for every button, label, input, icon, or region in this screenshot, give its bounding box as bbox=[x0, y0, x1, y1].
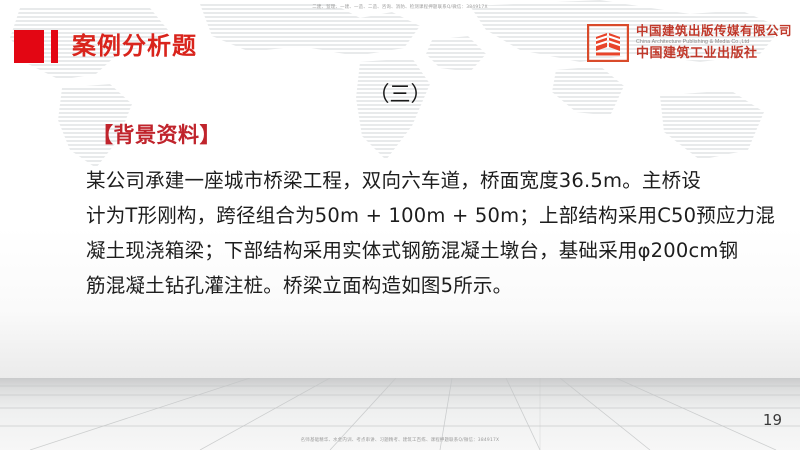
banner-block-large-icon bbox=[14, 30, 44, 63]
body-line: 计为T形刚构，跨径组合为50m + 100m + 50m；上部结构采用C50预应… bbox=[86, 198, 758, 233]
bottom-watermark: 名师基础精华、水金内训、考点串讲、习题精考、建筑工百练、课程押题联系Q/微信：3… bbox=[0, 437, 800, 443]
publisher-logo: 中国建筑出版传媒有限公司 China Architecture Publishi… bbox=[587, 24, 792, 62]
page-number: 19 bbox=[763, 411, 782, 429]
open-book-logo-icon bbox=[587, 24, 629, 62]
publisher-logo-text: 中国建筑出版传媒有限公司 China Architecture Publishi… bbox=[636, 24, 792, 62]
body-line: 某公司承建一座城市桥梁工程，双向六车道，桥面宽度36.5m。主桥设 bbox=[86, 163, 758, 198]
publisher-company-name-en: China Architecture Publishing & Media Co… bbox=[636, 39, 792, 46]
top-watermark: 二建、监理、一建、一造、二造、咨询、消防、检测课程押题联系Q/微信：384917… bbox=[0, 4, 800, 10]
banner-block-small-icon bbox=[51, 30, 58, 63]
background-material-body: 某公司承建一座城市桥梁工程，双向六车道，桥面宽度36.5m。主桥设 计为T形刚构… bbox=[86, 163, 758, 303]
title-banner: 案例分析题 bbox=[14, 29, 197, 63]
page-title: 案例分析题 bbox=[72, 34, 197, 58]
section-number: （三） bbox=[0, 78, 800, 108]
publisher-imprint-name: 中国建筑工业出版社 bbox=[636, 46, 792, 62]
body-line: 凝土现浇箱梁；下部结构采用实体式钢筋混凝土墩台，基础采用φ200cm钢 bbox=[86, 233, 758, 268]
body-line: 筋混凝土钻孔灌注桩。桥梁立面构造如图5所示。 bbox=[86, 268, 758, 303]
background-material-heading: 【背景资料】 bbox=[92, 119, 221, 149]
slide: 二建、监理、一建、一造、二造、咨询、消防、检测课程押题联系Q/微信：384917… bbox=[0, 0, 800, 450]
publisher-company-name: 中国建筑出版传媒有限公司 bbox=[636, 24, 792, 38]
